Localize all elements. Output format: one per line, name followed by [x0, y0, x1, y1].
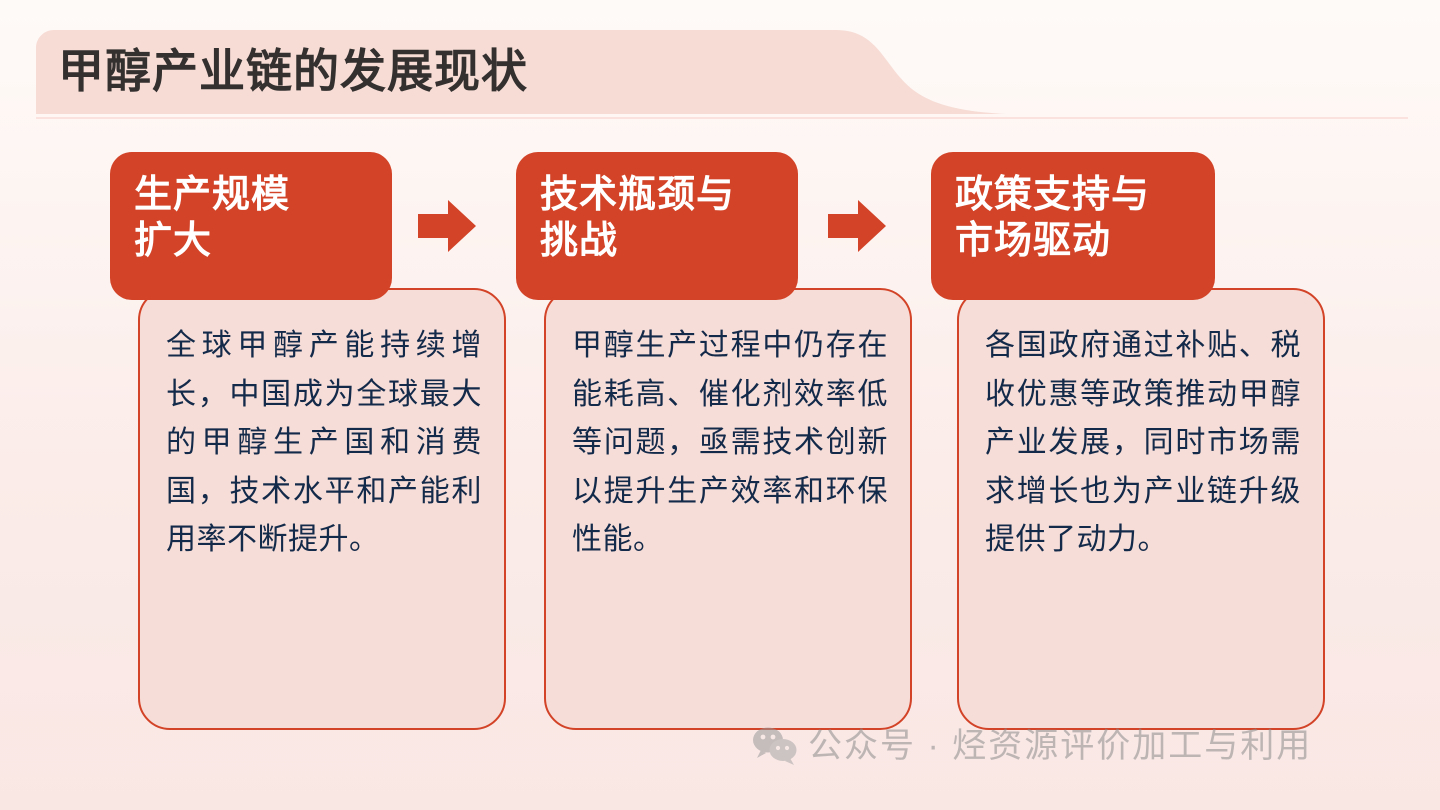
wechat-icon [752, 726, 798, 766]
flow-card-1-header[interactable]: 生产规模扩大 [110, 152, 392, 300]
flow-card-3-header-line2: 市场驱动 [955, 220, 1111, 262]
flow-card-2-header-text: 技术瓶颈与挑战 [516, 152, 735, 265]
slide-canvas: 甲醇产业链的发展现状 全球甲醇产能持续增长，中国成为全球最大的甲醇生产国和消费国… [0, 0, 1440, 810]
flow-card-3-header-line1: 政策支持与 [955, 174, 1150, 216]
page-title: 甲醇产业链的发展现状 [58, 48, 528, 94]
title-divider [36, 117, 1408, 119]
flow-card-2-header[interactable]: 技术瓶颈与挑战 [516, 152, 798, 300]
watermark: 公众号 · 烃资源评价加工与利用 [752, 726, 1312, 766]
flow-card-1-header-line1: 生产规模 [134, 174, 290, 216]
title-banner: 甲醇产业链的发展现状 [36, 30, 1006, 114]
flow-card-1-header-line2: 扩大 [134, 220, 212, 262]
flow-card-3-header-text: 政策支持与市场驱动 [931, 152, 1150, 265]
arrow-right-icon [418, 196, 476, 256]
flow-card-3-body: 各国政府通过补贴、税收优惠等政策推动甲醇产业发展，同时市场需求增长也为产业链升级… [957, 288, 1325, 730]
arrow-right-icon [828, 196, 886, 256]
flow-card-2-body: 甲醇生产过程中仍存在能耗高、催化剂效率低等问题，亟需技术创新以提升生产效率和环保… [544, 288, 912, 730]
flow-card-2-header-line1: 技术瓶颈与 [540, 174, 735, 216]
flow-card-1-body-text: 全球甲醇产能持续增长，中国成为全球最大的甲醇生产国和消费国，技术水平和产能利用率… [166, 322, 482, 565]
watermark-text: 公众号 · 烃资源评价加工与利用 [808, 729, 1312, 763]
flow-card-2-body-text: 甲醇生产过程中仍存在能耗高、催化剂效率低等问题，亟需技术创新以提升生产效率和环保… [572, 322, 888, 565]
flow-card-3-header[interactable]: 政策支持与市场驱动 [931, 152, 1215, 300]
flow-card-3-body-text: 各国政府通过补贴、税收优惠等政策推动甲醇产业发展，同时市场需求增长也为产业链升级… [985, 322, 1301, 565]
flow-card-1-body: 全球甲醇产能持续增长，中国成为全球最大的甲醇生产国和消费国，技术水平和产能利用率… [138, 288, 506, 730]
flow-card-2-header-line2: 挑战 [540, 220, 618, 262]
flow-card-1-header-text: 生产规模扩大 [110, 152, 290, 265]
